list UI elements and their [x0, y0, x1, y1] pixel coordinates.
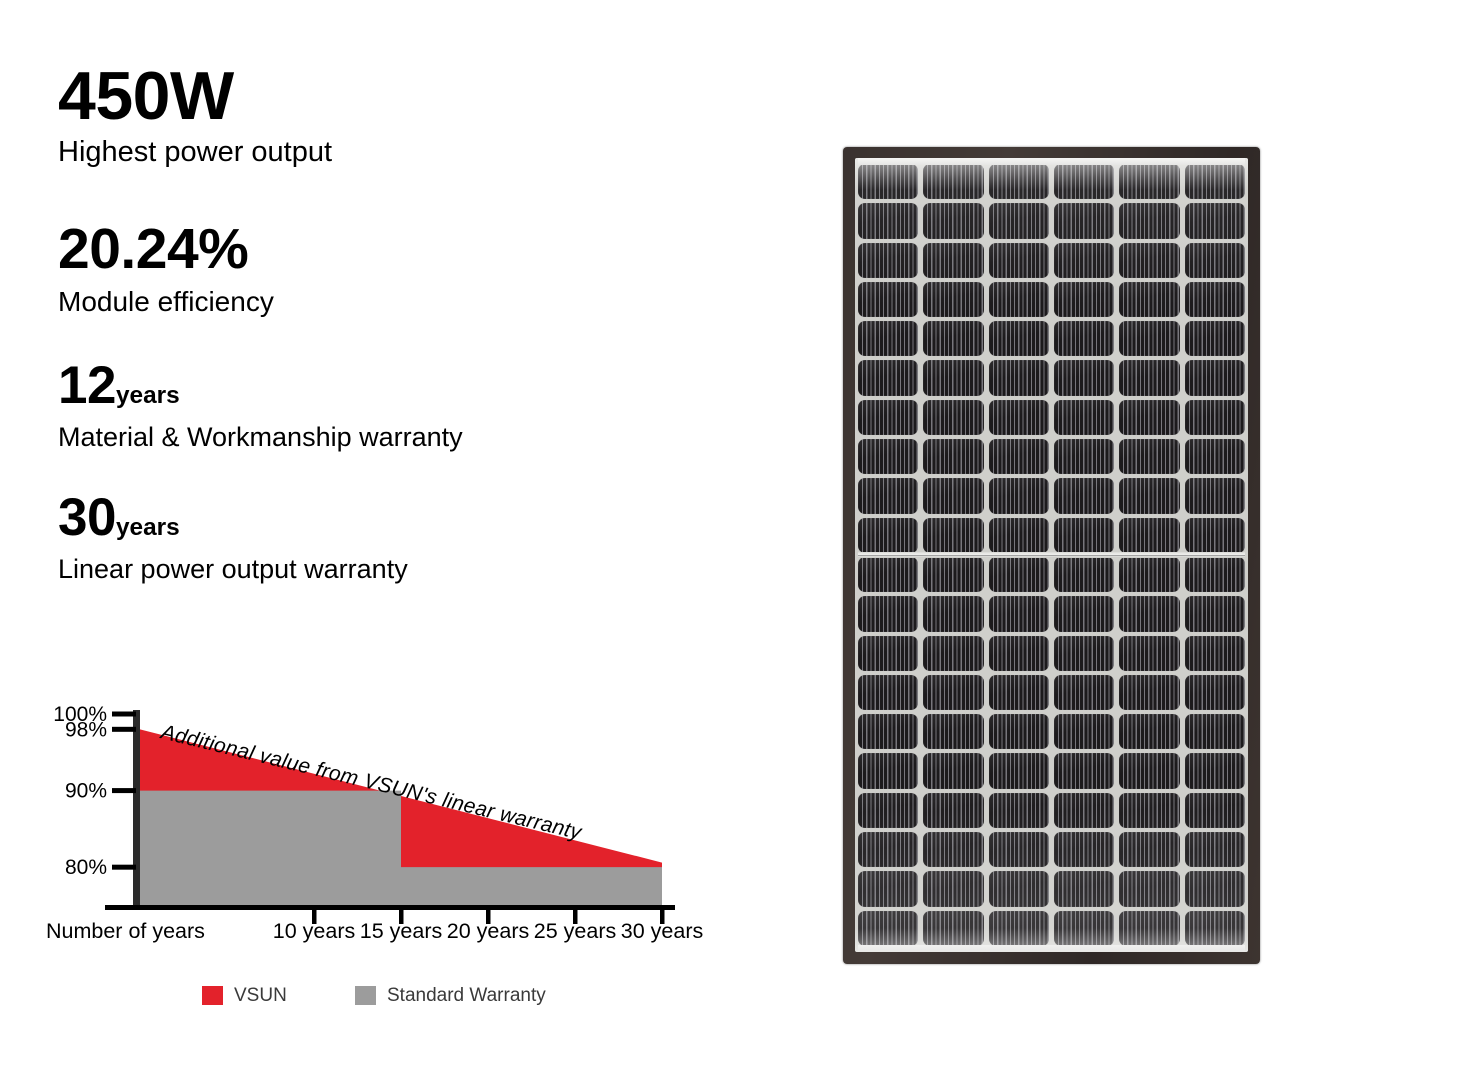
spec-block-power: 450W Highest power output	[58, 62, 778, 169]
solar-cell	[989, 243, 1049, 278]
solar-cell	[989, 714, 1049, 749]
solar-cell	[989, 321, 1049, 356]
solar-cell	[989, 596, 1049, 631]
solar-cell	[923, 753, 983, 788]
solar-cell	[1119, 203, 1179, 238]
solar-cell	[858, 243, 918, 278]
spec-block-linear-warranty: 30years Linear power output warranty	[58, 491, 778, 585]
solar-cell	[858, 793, 918, 828]
solar-cell	[1185, 321, 1245, 356]
solar-cell	[1054, 439, 1114, 474]
solar-cell	[858, 439, 918, 474]
solar-cell	[1119, 321, 1179, 356]
chart-legend: VSUNStandard Warranty	[202, 985, 546, 1006]
solar-cell	[923, 675, 983, 710]
solar-cell	[989, 636, 1049, 671]
solar-cell	[923, 400, 983, 435]
spec-value-efficiency: 20.24%	[58, 221, 778, 278]
solar-cell	[1054, 636, 1114, 671]
solar-cell	[1185, 400, 1245, 435]
y-tick-label-90: 90%	[65, 780, 107, 803]
spec-value-power: 450W	[58, 62, 778, 130]
solar-cell	[989, 282, 1049, 317]
panel-frame	[843, 147, 1260, 964]
solar-cell	[989, 439, 1049, 474]
legend-label-vsun: VSUN	[234, 985, 287, 1006]
solar-cell	[923, 636, 983, 671]
solar-cell	[1119, 871, 1179, 906]
panel-laminate	[855, 158, 1248, 952]
legend-label-standard-warranty: Standard Warranty	[387, 985, 546, 1006]
warranty-degradation-chart: 100%98%90%80% 10 years15 years20 years25…	[0, 690, 760, 1030]
solar-cell	[1054, 714, 1114, 749]
solar-cell	[858, 203, 918, 238]
solar-cell	[1185, 911, 1245, 946]
solar-cell	[1119, 164, 1179, 199]
solar-cell	[1119, 832, 1179, 867]
solar-cell	[858, 871, 918, 906]
solar-cell	[858, 321, 918, 356]
solar-cell	[923, 243, 983, 278]
solar-cell	[1054, 243, 1114, 278]
solar-cell	[1185, 871, 1245, 906]
solar-cell	[1054, 478, 1114, 513]
solar-cell	[989, 675, 1049, 710]
spec-block-material-warranty: 12years Material & Workmanship warranty	[58, 359, 778, 453]
solar-cell	[1185, 360, 1245, 395]
x-tick-label-15: 15 years	[360, 919, 442, 943]
spec-unit-material: years	[116, 382, 180, 409]
solar-cell	[858, 675, 918, 710]
solar-cell	[1185, 439, 1245, 474]
spec-label-efficiency: Module efficiency	[58, 286, 778, 318]
solar-cell	[858, 557, 918, 592]
solar-cell	[1054, 871, 1114, 906]
spec-label-material: Material & Workmanship warranty	[58, 422, 778, 453]
solar-cell	[989, 164, 1049, 199]
solar-cell	[1119, 518, 1179, 553]
solar-cell	[1119, 400, 1179, 435]
spec-number-efficiency: 20.24%	[58, 217, 248, 281]
x-axis-tick-labels: 10 years15 years20 years25 years30 years	[273, 919, 703, 943]
spec-value-material: 12years	[58, 359, 778, 412]
solar-cell	[923, 832, 983, 867]
solar-cell	[923, 596, 983, 631]
y-tick-label-80: 80%	[65, 856, 107, 879]
solar-cell	[1185, 203, 1245, 238]
solar-cell	[1054, 203, 1114, 238]
panel-center-busbar	[858, 552, 1245, 558]
solar-cell	[858, 911, 918, 946]
solar-cell	[1185, 753, 1245, 788]
x-tick-label-30: 30 years	[621, 919, 703, 943]
solar-cell	[1054, 596, 1114, 631]
solar-cell	[858, 714, 918, 749]
y-tick-label-98: 98%	[65, 718, 107, 741]
solar-cell	[923, 478, 983, 513]
solar-cell	[989, 911, 1049, 946]
solar-cell	[1054, 753, 1114, 788]
solar-cell	[989, 400, 1049, 435]
spec-list: 450W Highest power output 20.24% Module …	[58, 62, 778, 595]
solar-cell	[1185, 714, 1245, 749]
legend-swatch-standard-warranty	[355, 986, 376, 1005]
spec-label-linear: Linear power output warranty	[58, 554, 778, 585]
solar-cell	[1185, 793, 1245, 828]
solar-cell	[858, 636, 918, 671]
spec-label-power: Highest power output	[58, 136, 778, 169]
solar-cell	[989, 478, 1049, 513]
solar-cell	[1185, 636, 1245, 671]
solar-cell	[1119, 243, 1179, 278]
solar-cell	[858, 832, 918, 867]
solar-cell	[1054, 675, 1114, 710]
solar-cell	[858, 164, 918, 199]
solar-cell	[1185, 478, 1245, 513]
solar-cell	[923, 557, 983, 592]
x-axis-title: Number of years	[46, 919, 205, 943]
solar-cell	[1054, 400, 1114, 435]
solar-cell	[1119, 753, 1179, 788]
solar-cell	[923, 321, 983, 356]
solar-cell	[858, 360, 918, 395]
solar-cell	[923, 911, 983, 946]
solar-cell	[1119, 439, 1179, 474]
solar-cell	[989, 832, 1049, 867]
solar-cell	[1119, 911, 1179, 946]
solar-cell	[923, 518, 983, 553]
solar-cell	[923, 282, 983, 317]
solar-cell	[1119, 360, 1179, 395]
solar-cell	[989, 871, 1049, 906]
spec-unit-linear: years	[116, 514, 180, 541]
solar-cell	[1119, 714, 1179, 749]
spec-number-power: 450W	[58, 58, 234, 134]
solar-cell	[1054, 911, 1114, 946]
solar-cell	[1185, 596, 1245, 631]
solar-cell	[989, 360, 1049, 395]
solar-cell	[1185, 518, 1245, 553]
solar-cell	[1185, 164, 1245, 199]
solar-cell	[923, 360, 983, 395]
solar-cell	[989, 753, 1049, 788]
spec-value-linear: 30years	[58, 491, 778, 544]
solar-cell	[989, 557, 1049, 592]
solar-cell	[1054, 321, 1114, 356]
panel-top-busbar	[858, 158, 1245, 165]
solar-cell	[1119, 596, 1179, 631]
y-tick-98	[112, 727, 136, 732]
solar-cell	[1054, 282, 1114, 317]
solar-cell	[923, 164, 983, 199]
y-axis-tick-labels: 100%98%90%80%	[53, 703, 107, 879]
x-tick-label-25: 25 years	[534, 919, 616, 943]
spec-number-linear: 30	[58, 488, 116, 547]
spec-number-material: 12	[58, 356, 116, 415]
solar-cell	[858, 400, 918, 435]
solar-cell	[1119, 675, 1179, 710]
y-axis-line	[133, 710, 140, 909]
solar-cell	[1119, 636, 1179, 671]
solar-cell	[1185, 282, 1245, 317]
panel-bottom-busbar	[858, 945, 1245, 952]
solar-cell	[858, 518, 918, 553]
solar-cell	[1119, 478, 1179, 513]
solar-cell	[858, 282, 918, 317]
solar-panel-image	[843, 147, 1260, 964]
solar-cell	[1054, 518, 1114, 553]
solar-cell	[1185, 832, 1245, 867]
solar-cell	[989, 203, 1049, 238]
y-axis-ticks	[112, 712, 136, 870]
solar-cell	[1054, 557, 1114, 592]
solar-cell	[858, 753, 918, 788]
solar-cell	[858, 596, 918, 631]
solar-cell	[923, 871, 983, 906]
solar-cell	[989, 518, 1049, 553]
solar-cell	[923, 439, 983, 474]
solar-cell	[923, 203, 983, 238]
x-tick-label-10: 10 years	[273, 919, 355, 943]
spec-block-efficiency: 20.24% Module efficiency	[58, 221, 778, 318]
solar-cell	[1054, 793, 1114, 828]
solar-cell	[1185, 243, 1245, 278]
solar-cell	[1119, 557, 1179, 592]
y-tick-80	[112, 865, 136, 870]
x-axis-line	[105, 905, 675, 910]
solar-cell	[1119, 793, 1179, 828]
legend-swatch-vsun	[202, 986, 223, 1005]
solar-cell	[1185, 557, 1245, 592]
solar-cell	[989, 793, 1049, 828]
x-tick-label-20: 20 years	[447, 919, 529, 943]
solar-cell	[923, 714, 983, 749]
solar-cell	[1054, 832, 1114, 867]
solar-cell	[1054, 360, 1114, 395]
chart-svg: 100%98%90%80% 10 years15 years20 years25…	[0, 690, 760, 1030]
solar-cell	[858, 478, 918, 513]
solar-cell	[1119, 282, 1179, 317]
solar-cell	[923, 793, 983, 828]
y-tick-100	[112, 712, 136, 717]
solar-cell	[1185, 675, 1245, 710]
solar-cell	[1054, 164, 1114, 199]
y-tick-90	[112, 788, 136, 793]
